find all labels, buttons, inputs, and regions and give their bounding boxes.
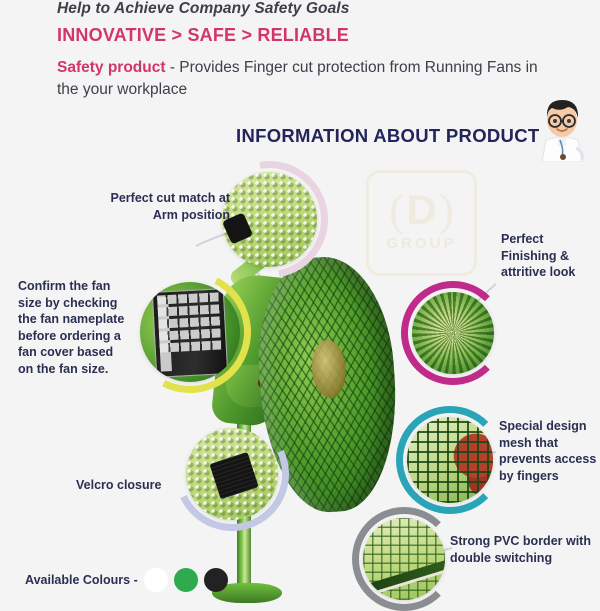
safety-product-lead: Safety product (57, 59, 166, 76)
callout-photo-nameplate (140, 282, 240, 382)
fan-hub (310, 339, 348, 399)
tagline-text: Help to Achieve Company Safety Goals (57, 0, 349, 18)
page-title: INFORMATION ABOUT PRODUCT (236, 125, 539, 147)
callout-photo-velcro (186, 428, 278, 520)
callout-velcro-closure (186, 428, 278, 520)
colour-swatch-white[interactable] (144, 568, 168, 592)
available-colours-label: Available Colours - (25, 573, 138, 587)
callout-photo-perfect-cut-match (222, 172, 317, 267)
label-special-design-mesh: Special design mesh that prevents access… (499, 418, 599, 484)
callout-perfect-finishing (412, 292, 494, 374)
nameplate-row (159, 328, 221, 340)
watermark-letter-d: D (406, 195, 436, 225)
nameplate-row (157, 292, 219, 304)
infographic-canvas: Help to Achieve Company Safety Goals INN… (0, 0, 600, 600)
label-perfect-finishing: Perfect Finishing & attritive look (501, 231, 596, 281)
callout-confirm-fan-size (140, 282, 240, 382)
nameplate-row (160, 340, 222, 352)
label-confirm-fan-size: Confirm the fan size by checking the fan… (18, 278, 128, 377)
callout-perfect-cut-match (222, 172, 317, 267)
callout-strong-pvc-border (363, 518, 445, 600)
colour-swatch-green[interactable] (174, 568, 198, 592)
callout-special-design-mesh (407, 417, 493, 503)
safety-product-text: Safety product - Provides Finger cut pro… (57, 57, 557, 102)
colour-swatch-black[interactable] (204, 568, 228, 592)
fan-grille-texture (412, 292, 494, 374)
slogan-text: INNOVATIVE > SAFE > RELIABLE (57, 25, 349, 46)
callout-photo-mesh-fingers (407, 417, 493, 503)
available-colours: Available Colours - (25, 568, 228, 592)
pvc-border-texture (363, 518, 445, 600)
callout-photo-finishing (412, 292, 494, 374)
label-perfect-cut-match: Perfect cut match at Arm position (100, 190, 230, 223)
fan-nameplate (152, 288, 228, 378)
watermark-paren-right: ) (439, 195, 454, 225)
nameplate-row (158, 304, 220, 316)
nameplate-row (158, 316, 220, 328)
label-strong-pvc-border: Strong PVC border with double switching (450, 533, 595, 566)
label-velcro-closure: Velcro closure (76, 477, 196, 494)
doctor-mascot-icon (530, 96, 594, 162)
mesh-texture-with-fingers (407, 417, 493, 503)
callout-photo-pvc-border (363, 518, 445, 600)
